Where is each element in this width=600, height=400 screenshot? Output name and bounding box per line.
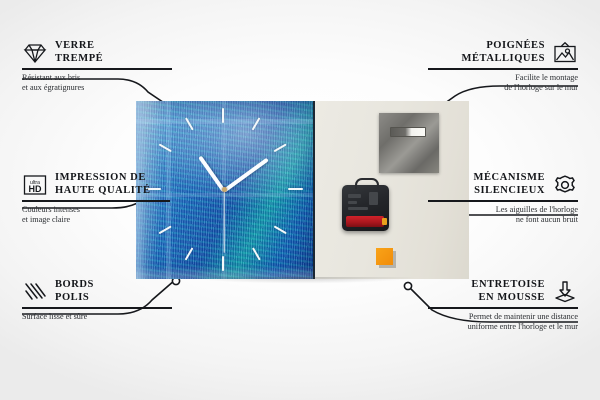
- feature-rule: [428, 307, 578, 309]
- feature-mecanisme-silencieux: MÉCANISME SILENCIEUX Les aiguilles de l'…: [428, 172, 578, 225]
- hour-marker: [185, 117, 194, 130]
- feature-subtitle: Résistant aux bris et aux égratignures: [22, 73, 172, 93]
- feature-bords-polis: BORDS POLIS Surface lisse et sûre: [22, 279, 172, 322]
- feature-title: VERRE TREMPÉ: [55, 40, 103, 65]
- feature-subtitle: Surface lisse et sûre: [22, 312, 172, 322]
- hour-marker: [159, 143, 172, 152]
- clock-center-pin: [222, 187, 227, 192]
- feature-title: BORDS POLIS: [55, 279, 94, 304]
- feature-rule: [22, 307, 172, 309]
- feature-title: POIGNÉES MÉTALLIQUES: [462, 40, 545, 65]
- feature-poignees-metalliques: POIGNÉES MÉTALLIQUES Facilite le montage…: [428, 40, 578, 93]
- product-image: [136, 101, 467, 279]
- metal-hanger-bracket: [379, 113, 439, 173]
- movement-hook: [355, 178, 379, 189]
- hour-marker: [274, 225, 287, 234]
- hour-marker: [252, 117, 261, 130]
- battery: [346, 216, 384, 227]
- diamond-icon: [22, 41, 48, 65]
- hour-marker: [274, 143, 287, 152]
- feature-verre-trempe: VERRE TREMPÉ Résistant aux bris et aux é…: [22, 40, 172, 93]
- feature-title: ENTRETOISE EN MOUSSE: [471, 279, 545, 304]
- feature-subtitle: Les aiguilles de l'horloge ne font aucun…: [428, 205, 578, 225]
- hour-marker: [288, 188, 303, 190]
- foam-spacer: [376, 248, 393, 265]
- feature-title: MÉCANISME SILENCIEUX: [474, 172, 545, 197]
- hour-hand: [198, 155, 226, 192]
- picture-hanger-icon: [552, 41, 578, 65]
- ultra-hd-icon: ultra HD: [22, 173, 48, 197]
- press-down-icon: [552, 280, 578, 304]
- clock-movement-box: [342, 185, 389, 231]
- hour-marker: [185, 247, 194, 260]
- feature-rule: [22, 68, 172, 70]
- hour-marker: [252, 247, 261, 260]
- hour-marker: [222, 108, 224, 123]
- feature-rule: [428, 200, 578, 202]
- feature-subtitle: Facilite le montage de l'horloge sur le …: [428, 73, 578, 93]
- hour-marker: [159, 225, 172, 234]
- feature-subtitle: Couleurs intenses et image claire: [22, 205, 170, 225]
- polished-edges-icon: [22, 280, 48, 304]
- feature-rule: [428, 68, 578, 70]
- feature-rule: [22, 200, 170, 202]
- svg-text:HD: HD: [29, 184, 42, 194]
- minute-hand: [223, 158, 269, 193]
- gear-icon: [552, 173, 578, 197]
- hour-marker: [222, 256, 224, 271]
- feature-impression-haute-qualite: ultra HD IMPRESSION DE HAUTE QUALITÉ Cou…: [22, 172, 170, 225]
- feature-subtitle: Permet de maintenir une distance uniform…: [428, 312, 578, 332]
- feature-title: IMPRESSION DE HAUTE QUALITÉ: [55, 172, 151, 197]
- feature-entretoise-en-mousse: ENTRETOISE EN MOUSSE Permet de maintenir…: [428, 279, 578, 332]
- infographic-canvas: VERRE TREMPÉ Résistant aux bris et aux é…: [0, 0, 600, 400]
- second-hand: [223, 191, 224, 253]
